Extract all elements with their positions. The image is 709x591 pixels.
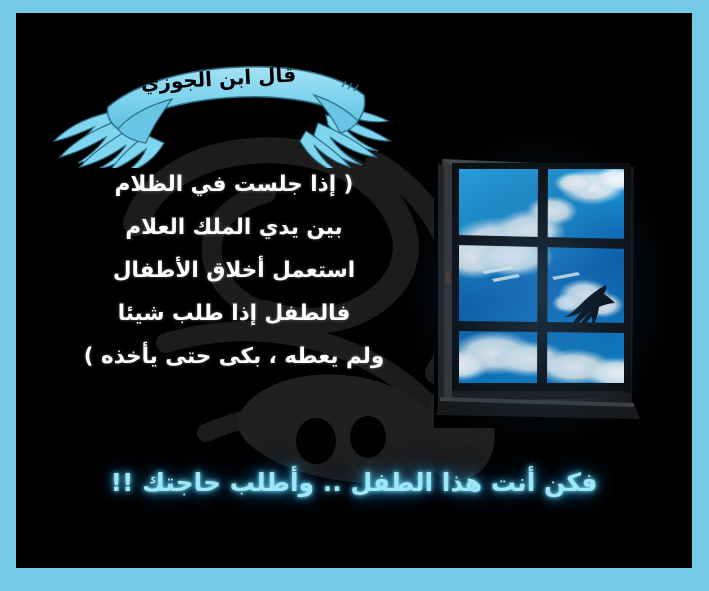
window-photo <box>434 153 644 428</box>
window-illustration <box>434 153 644 428</box>
poster-canvas: قال ابن الجوزي : <box>16 13 692 568</box>
quote-line-2: بين يدي الملك العلام <box>54 206 414 249</box>
tagline: فكن أنت هذا الطفل .. وأطلب حاجتك !! <box>16 468 692 497</box>
quote-line-4: فالطفل إذا طلب شيئا <box>54 292 414 335</box>
quote-block: ( إذا جلست في الظلام بين يدي الملك العلا… <box>54 163 414 378</box>
quote-line-3: استعمل أخلاق الأطفال <box>54 249 414 292</box>
poster: قال ابن الجوزي : <box>0 0 709 591</box>
ribbon-banner: قال ابن الجوزي : <box>46 53 396 168</box>
quote-line-1: ( إذا جلست في الظلام <box>54 163 414 206</box>
quote-line-5: ولم يعطه ، بكى حتى يأخذه ) <box>54 335 414 378</box>
